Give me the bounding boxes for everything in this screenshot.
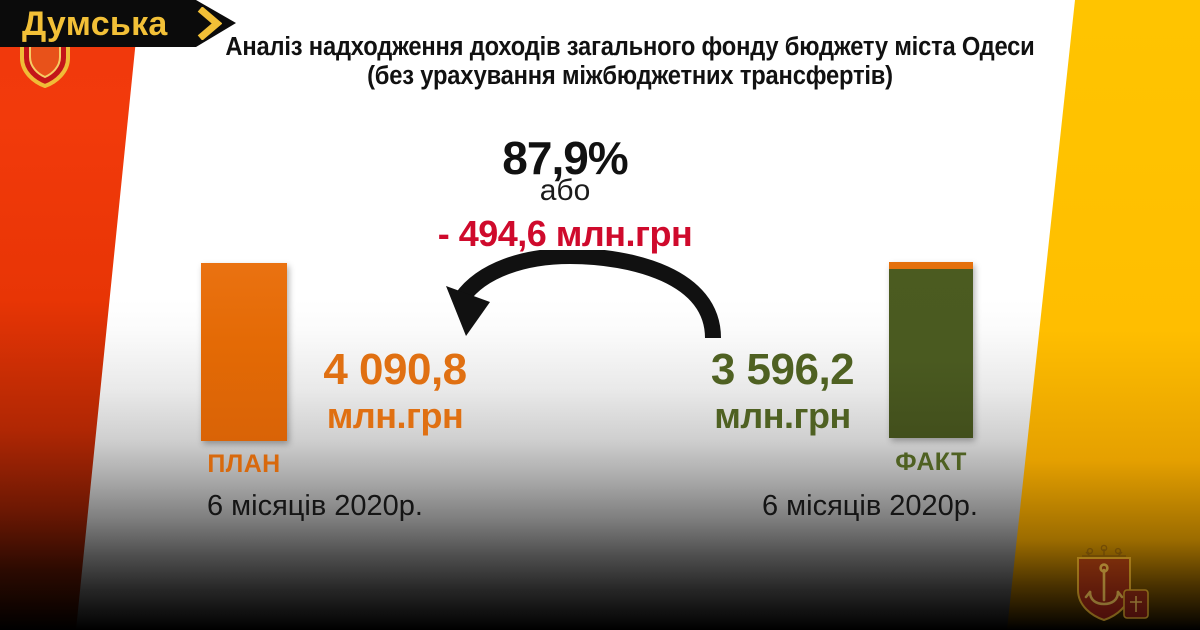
bar-fact	[889, 262, 973, 438]
connector-label: або	[400, 176, 730, 206]
plan-value-unit: млн.грн	[290, 395, 500, 437]
bar-fact-top-cap	[889, 262, 973, 269]
difference-amount: - 494,6 млн.грн	[395, 216, 735, 252]
bar-plan	[201, 263, 287, 441]
fact-caption: ФАКТ	[873, 450, 989, 475]
plan-value: 4 090,8 млн.грн	[290, 345, 500, 437]
title-line-2: (без урахування міжбюджетних трансфертів…	[184, 62, 1077, 91]
title-line-1: Аналіз надходження доходів загального фо…	[225, 33, 1034, 61]
brand-logo-text: Думська	[22, 7, 168, 41]
fact-period: 6 місяців 2020р.	[715, 492, 1025, 521]
odesa-coat-of-arms-icon	[1056, 544, 1152, 624]
plan-caption: ПЛАН	[186, 452, 302, 477]
fact-value-unit: млн.грн	[675, 395, 890, 437]
curved-arrow-left-icon	[420, 250, 740, 360]
page-title: Аналіз надходження доходів загального фо…	[184, 33, 1077, 91]
plan-value-number: 4 090,8	[323, 345, 466, 394]
fact-value: 3 596,2 млн.грн	[675, 345, 890, 437]
infographic-canvas: Думська Аналіз надходження доходів загал…	[0, 0, 1200, 630]
fact-value-number: 3 596,2	[711, 345, 854, 394]
plan-period: 6 місяців 2020р.	[160, 492, 470, 521]
